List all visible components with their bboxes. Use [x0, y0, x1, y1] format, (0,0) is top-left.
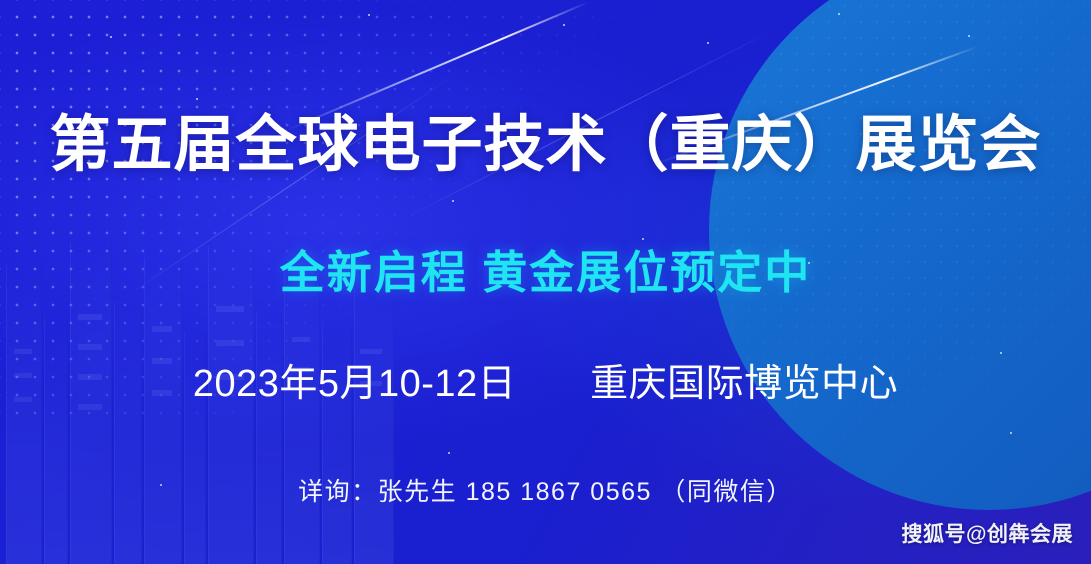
- event-venue: 重庆国际博览中心: [590, 352, 898, 407]
- event-tagline: 全新启程 黄金展位预定中: [0, 236, 1091, 301]
- event-info-row: 2023年5月10-12日 重庆国际博览中心: [0, 352, 1091, 407]
- event-banner: 第五届全球电子技术（重庆）展览会 全新启程 黄金展位预定中 2023年5月10-…: [0, 0, 1091, 564]
- source-watermark: 搜狐号@创犇会展: [902, 518, 1073, 548]
- contact-info: 详询：张先生 185 1867 0565 （同微信）: [0, 472, 1091, 508]
- event-title: 第五届全球电子技术（重庆）展览会: [0, 112, 1091, 178]
- banner-content: 第五届全球电子技术（重庆）展览会 全新启程 黄金展位预定中 2023年5月10-…: [0, 0, 1091, 564]
- event-date: 2023年5月10-12日: [193, 352, 516, 407]
